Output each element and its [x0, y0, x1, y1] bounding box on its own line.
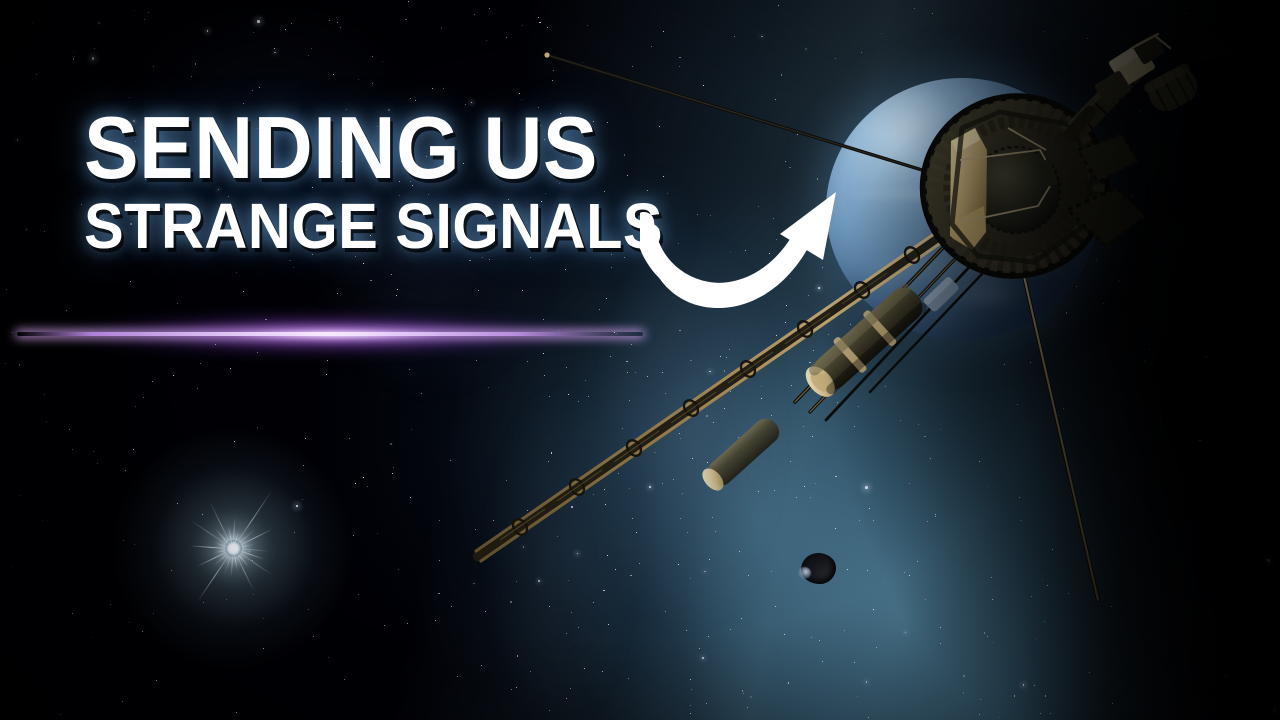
thumbnail-canvas: SENDING US STRANGE SIGNALS [0, 0, 1280, 720]
rtg-secondary [698, 414, 784, 495]
curved-arrow-pointing-up-right [640, 188, 840, 308]
page-title-line1: SENDING US [84, 108, 661, 189]
page-title-line2: STRANGE SIGNALS [84, 197, 661, 256]
science-instrument-boom [1067, 33, 1203, 139]
title-block: SENDING US STRANGE SIGNALS [84, 108, 704, 256]
